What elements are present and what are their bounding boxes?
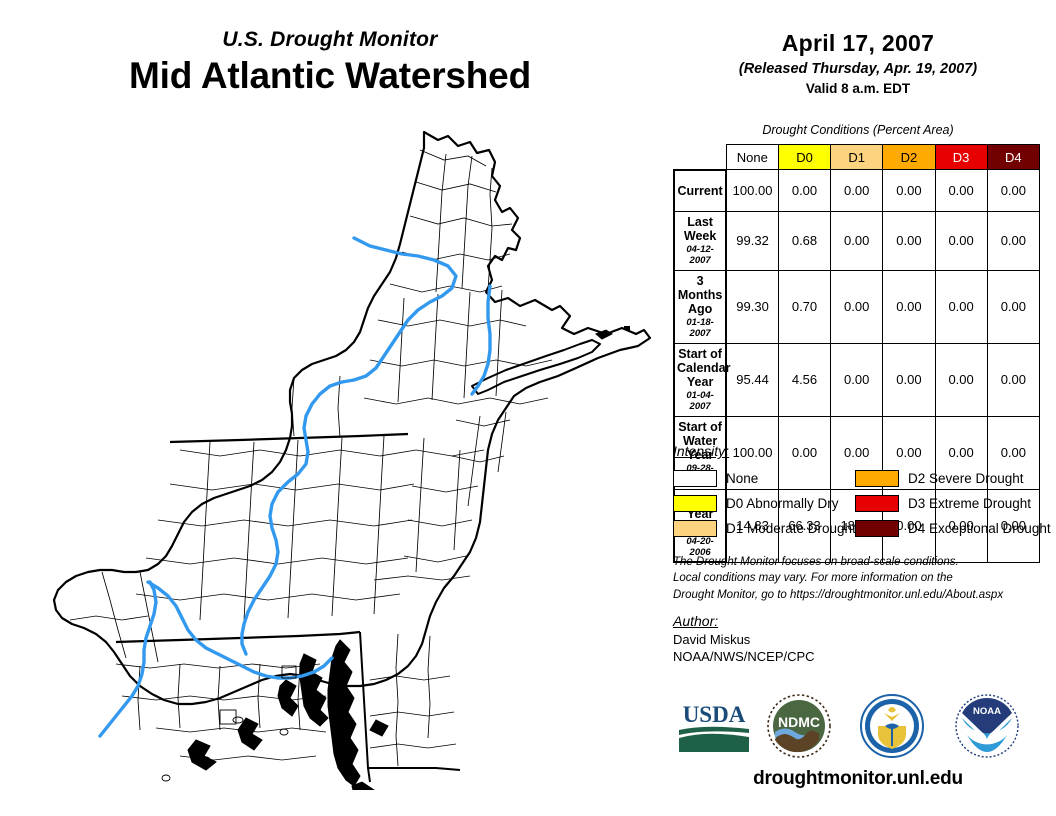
column-header-d1: D1 [831, 145, 883, 170]
region-outline [54, 132, 650, 704]
cell-d4: 0.00 [987, 170, 1039, 212]
map-landmass [54, 132, 650, 782]
legend-label-d1: D1 Moderate Drought [726, 521, 856, 536]
legend-swatch-d4 [855, 520, 899, 537]
row-date: 04-12-2007 [677, 245, 723, 267]
cell-d3: 0.00 [935, 212, 987, 271]
cell-d1: 0.00 [831, 170, 883, 212]
row-label: 3 Months Ago01-18-2007 [674, 270, 726, 343]
intensity-title: Intensity: [673, 443, 1053, 459]
author-title: Author: [673, 613, 1053, 629]
row-date: 01-04-2007 [677, 391, 723, 413]
valid-time: Valid 8 a.m. EDT [660, 81, 1056, 96]
author-name: David Miskus [673, 632, 1053, 649]
table-row: Current100.000.000.000.000.000.00 [674, 170, 1040, 212]
column-header-none: None [726, 145, 778, 170]
legend-item-d2: D2 Severe Drought [855, 466, 1045, 491]
column-header-d3: D3 [935, 145, 987, 170]
cell-d1: 0.00 [831, 212, 883, 271]
note-line-1: The Drought Monitor focuses on broad-sca… [673, 554, 1053, 570]
legend-label-d4: D4 Exceptional Drought [908, 521, 1051, 536]
noaa-wordmark: NOAA [973, 706, 1001, 717]
drought-monitor-page: U.S. Drought Monitor Mid Atlantic Waters… [0, 0, 1056, 816]
table-row: Last Week04-12-200799.320.680.000.000.00… [674, 212, 1040, 271]
legend-swatch-d2 [855, 470, 899, 487]
logo-row: USDA NDMC [665, 688, 1055, 768]
table-corner-cell [674, 145, 726, 170]
release-date: (Released Thursday, Apr. 19, 2007) [660, 61, 1056, 77]
right-info-panel: April 17, 2007 (Released Thursday, Apr. … [660, 0, 1056, 816]
table-row: Start ofCalendar Year01-04-200795.444.56… [674, 343, 1040, 416]
row-label: Current [674, 170, 726, 212]
legend-swatch-d0 [673, 495, 717, 512]
legend-swatch-d1 [673, 520, 717, 537]
author-agency: NOAA/NWS/NCEP/CPC [673, 649, 1053, 666]
cell-d2: 0.00 [883, 170, 935, 212]
cell-d4: 0.00 [987, 343, 1039, 416]
cell-d2: 0.00 [883, 343, 935, 416]
cell-none: 100.00 [726, 170, 778, 212]
cell-none: 95.44 [726, 343, 778, 416]
page-title: Mid Atlantic Watershed [0, 55, 660, 98]
legend-label-none: None [726, 471, 758, 486]
cell-d3: 0.00 [935, 270, 987, 343]
cell-d0: 0.00 [778, 170, 830, 212]
cell-d2: 0.00 [883, 212, 935, 271]
legend-grid: NoneD2 Severe DroughtD0 Abnormally DryD3… [673, 466, 1053, 541]
map-date: April 17, 2007 [660, 30, 1056, 57]
author-block: Author: David Miskus NOAA/NWS/NCEP/CPC [673, 613, 1053, 665]
column-header-d0: D0 [778, 145, 830, 170]
page-subtitle: U.S. Drought Monitor [0, 28, 660, 51]
note-line-3: Drought Monitor, go to https://droughtmo… [673, 587, 1053, 603]
noaa-logo[interactable]: NOAA [953, 692, 1021, 760]
usda-wordmark: USDA [683, 702, 746, 727]
ndmc-logo[interactable]: NDMC [765, 692, 833, 760]
row-label: Start ofCalendar Year01-04-2007 [674, 343, 726, 416]
mid-atlantic-watershed-map[interactable] [40, 120, 660, 790]
cell-d1: 0.00 [831, 343, 883, 416]
footer-url[interactable]: droughtmonitor.unl.edu [660, 768, 1056, 790]
legend-label-d2: D2 Severe Drought [908, 471, 1024, 486]
date-block: April 17, 2007 (Released Thursday, Apr. … [660, 30, 1056, 96]
page-title-block: U.S. Drought Monitor Mid Atlantic Waters… [0, 28, 660, 98]
legend-label-d0: D0 Abnormally Dry [726, 496, 839, 511]
legend-item-d3: D3 Extreme Drought [855, 491, 1045, 516]
legend-item-d4: D4 Exceptional Drought [855, 516, 1045, 541]
cell-d4: 0.00 [987, 212, 1039, 271]
state-border-md-va-eastern-shore [368, 768, 460, 770]
legend-item-none: None [673, 466, 855, 491]
cell-d2: 0.00 [883, 270, 935, 343]
commerce-seal[interactable] [858, 692, 926, 760]
map-container[interactable] [40, 120, 660, 790]
note-line-2: Local conditions may vary. For more info… [673, 570, 1053, 586]
table-header-row: None D0 D1 D2 D3 D4 [674, 145, 1040, 170]
column-header-d2: D2 [883, 145, 935, 170]
cell-d3: 0.00 [935, 170, 987, 212]
intensity-legend: Intensity: NoneD2 Severe DroughtD0 Abnor… [673, 443, 1053, 541]
table-row: 3 Months Ago01-18-200799.300.700.000.000… [674, 270, 1040, 343]
table-header: None D0 D1 D2 D3 D4 [674, 145, 1040, 170]
row-label: Last Week04-12-2007 [674, 212, 726, 271]
legend-item-d1: D1 Moderate Drought [673, 516, 855, 541]
block-island-dot [624, 326, 630, 330]
usda-logo[interactable]: USDA [675, 696, 753, 754]
legend-swatch-none [673, 470, 717, 487]
cell-d4: 0.00 [987, 270, 1039, 343]
disclaimer-note: The Drought Monitor focuses on broad-sca… [673, 554, 1053, 603]
column-header-d4: D4 [987, 145, 1039, 170]
legend-item-d0: D0 Abnormally Dry [673, 491, 855, 516]
legend-swatch-d3 [855, 495, 899, 512]
cell-d1: 0.00 [831, 270, 883, 343]
ndmc-wordmark: NDMC [778, 714, 820, 730]
table-caption: Drought Conditions (Percent Area) [660, 123, 1056, 137]
cell-d0: 0.70 [778, 270, 830, 343]
cell-d3: 0.00 [935, 343, 987, 416]
legend-label-d3: D3 Extreme Drought [908, 496, 1031, 511]
cell-d0: 0.68 [778, 212, 830, 271]
row-date: 01-18-2007 [677, 318, 723, 340]
cell-none: 99.32 [726, 212, 778, 271]
cell-d0: 4.56 [778, 343, 830, 416]
cell-none: 99.30 [726, 270, 778, 343]
